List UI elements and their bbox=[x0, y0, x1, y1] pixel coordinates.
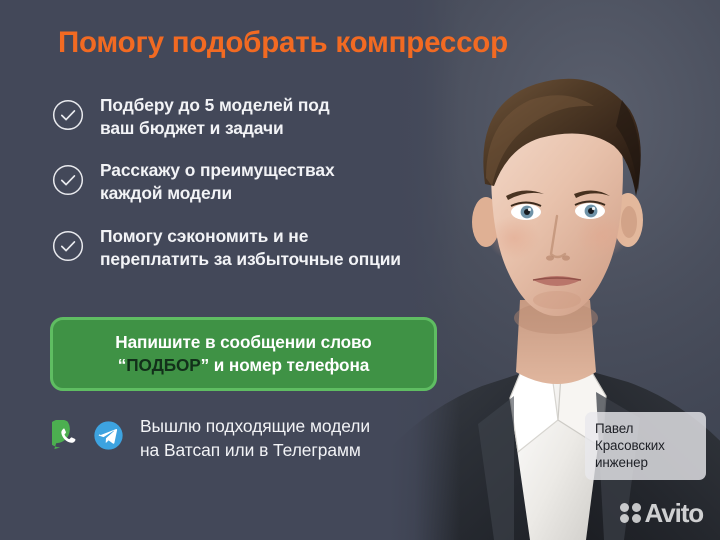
list-item-label: Подберу до 5 моделей под ваш бюджет и за… bbox=[100, 93, 330, 140]
cta-line-2: “ПОДБОР” и номер телефона bbox=[118, 354, 369, 377]
bullet-line-2: переплатить за избыточные опции bbox=[100, 249, 401, 269]
messenger-label: Вышлю подходящие модели на Ватсап или в … bbox=[140, 414, 370, 462]
bullet-line-1: Подберу до 5 моделей под bbox=[100, 95, 330, 115]
badge-role: инженер bbox=[595, 454, 697, 471]
badge-first-name: Павел bbox=[595, 420, 697, 437]
list-item-label: Расскажу о преимуществах каждой модели bbox=[100, 158, 335, 205]
bullet-line-1: Помогу сэкономить и не bbox=[100, 226, 308, 246]
cta-line-1: Напишите в сообщении слово bbox=[115, 331, 371, 354]
list-item: Подберу до 5 моделей под ваш бюджет и за… bbox=[52, 93, 482, 140]
check-circle-icon bbox=[52, 99, 84, 131]
messenger-line-1: Вышлю подходящие модели bbox=[140, 416, 370, 436]
bullet-line-2: ваш бюджет и задачи bbox=[100, 118, 284, 138]
list-item-label: Помогу сэкономить и не переплатить за из… bbox=[100, 224, 401, 271]
check-circle-icon bbox=[52, 164, 84, 196]
cta-keyword: ПОДБОР bbox=[126, 355, 200, 375]
badge-last-name: Красовских bbox=[595, 437, 697, 454]
messenger-row: Вышлю подходящие модели на Ватсап или в … bbox=[52, 414, 370, 462]
bullet-line-2: каждой модели bbox=[100, 183, 232, 203]
whatsapp-icon[interactable] bbox=[52, 420, 83, 456]
check-circle-icon bbox=[52, 230, 84, 262]
benefits-list: Подберу до 5 моделей под ваш бюджет и за… bbox=[52, 93, 482, 289]
cta-quote-close-and-rest: ” и номер телефона bbox=[201, 355, 370, 375]
ad-banner: Помогу подобрать компрессор Подберу до 5… bbox=[0, 0, 720, 540]
avito-wordmark: Avito bbox=[645, 500, 704, 526]
messenger-icons bbox=[52, 420, 124, 456]
bullet-line-1: Расскажу о преимуществах bbox=[100, 160, 335, 180]
avito-watermark: Avito bbox=[620, 500, 703, 526]
cta-callout-box: Напишите в сообщении слово “ПОДБОР” и но… bbox=[50, 317, 437, 391]
telegram-icon[interactable] bbox=[93, 420, 124, 456]
page-title: Помогу подобрать компрессор bbox=[58, 26, 658, 59]
list-item: Помогу сэкономить и не переплатить за из… bbox=[52, 224, 482, 271]
cta-quote-open: “ bbox=[118, 355, 127, 375]
messenger-line-2: на Ватсап или в Телеграмм bbox=[140, 440, 361, 460]
avito-dots-icon bbox=[620, 503, 641, 524]
name-badge: Павел Красовских инженер bbox=[585, 412, 706, 480]
list-item: Расскажу о преимуществах каждой модели bbox=[52, 158, 482, 205]
